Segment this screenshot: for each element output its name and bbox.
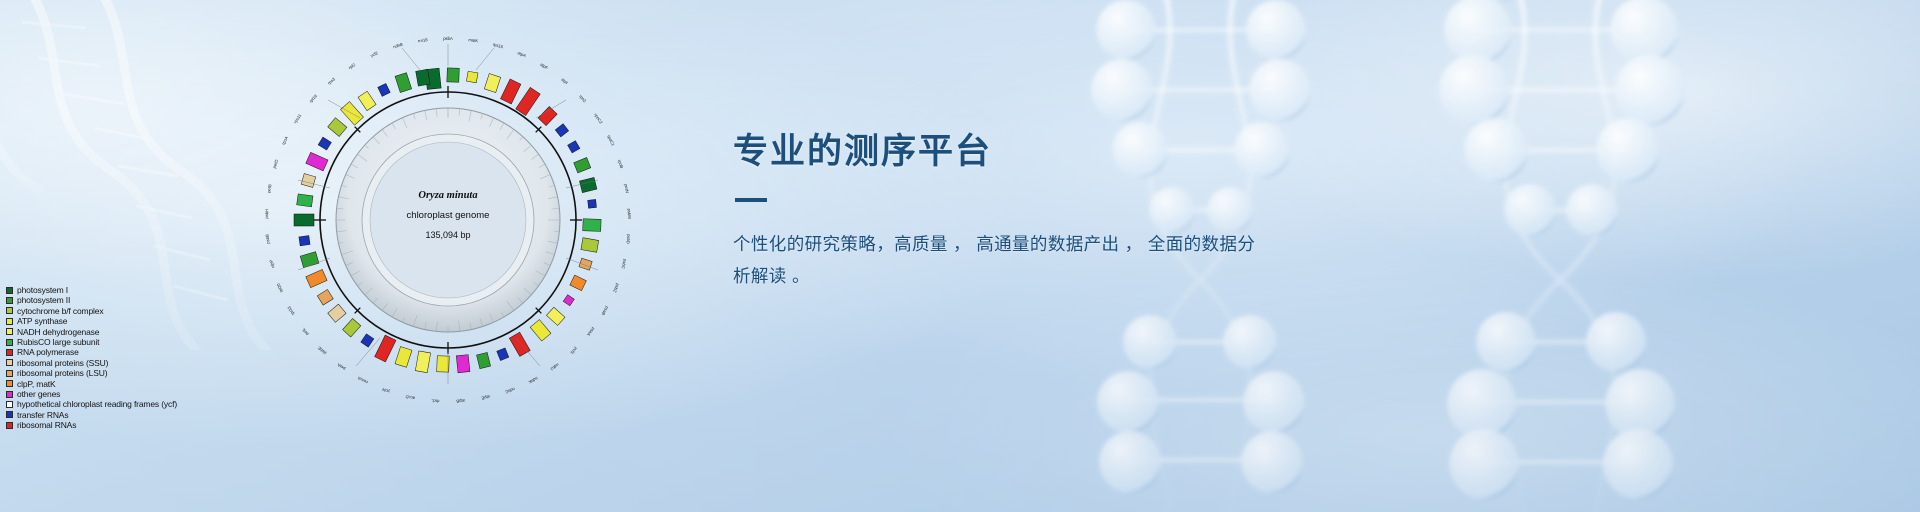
legend-item: cytochrome b/f complex bbox=[6, 306, 177, 316]
svg-text:ndhJ: ndhJ bbox=[550, 362, 560, 371]
svg-text:psbZ: psbZ bbox=[612, 283, 620, 294]
svg-text:rpl16: rpl16 bbox=[308, 93, 318, 104]
legend-item: ribosomal proteins (LSU) bbox=[6, 368, 177, 378]
legend-item-label: transfer RNAs bbox=[17, 410, 68, 420]
legend-color-swatch bbox=[6, 339, 13, 346]
legend-item: RubisCO large subunit bbox=[6, 337, 177, 347]
legend-color-swatch bbox=[6, 380, 13, 387]
svg-text:clpP: clpP bbox=[268, 259, 275, 268]
legend-color-swatch bbox=[6, 287, 13, 294]
legend-item-label: RubisCO large subunit bbox=[17, 337, 99, 347]
legend-color-swatch bbox=[6, 391, 13, 398]
svg-text:petN: petN bbox=[624, 184, 630, 194]
legend-item-label: photosystem I bbox=[17, 285, 68, 295]
legend-color-swatch bbox=[6, 318, 13, 325]
legend-color-swatch bbox=[6, 297, 13, 304]
legend-item-label: ribosomal RNAs bbox=[17, 420, 76, 430]
svg-text:psbC: psbC bbox=[620, 259, 627, 270]
svg-text:petB: petB bbox=[266, 184, 272, 194]
svg-text:rpl33: rpl33 bbox=[286, 305, 295, 316]
svg-text:psbE: psbE bbox=[317, 345, 327, 355]
legend-item: NADH dehydrogenase bbox=[6, 327, 177, 337]
legend-item-label: ATP synthase bbox=[17, 316, 67, 326]
chloroplast-genome-figure: psbA matK rps16 atpA atpF atpI rps2 rpoC… bbox=[236, 8, 660, 428]
svg-text:ycf3: ycf3 bbox=[569, 346, 578, 355]
legend-color-swatch bbox=[6, 359, 13, 366]
svg-text:ndhK: ndhK bbox=[528, 376, 539, 385]
legend-item-label: hypothetical chloroplast reading frames … bbox=[17, 399, 177, 409]
svg-text:rrn16: rrn16 bbox=[418, 37, 429, 43]
legend-color-swatch bbox=[6, 401, 13, 408]
legend-item: photosystem II bbox=[6, 295, 177, 305]
legend-item-label: ribosomal proteins (SSU) bbox=[17, 358, 108, 368]
legend-item-label: other genes bbox=[17, 389, 60, 399]
svg-text:rpl20: rpl20 bbox=[275, 282, 283, 293]
genome-organism-name: Oryza minuta bbox=[418, 190, 477, 201]
svg-text:petL: petL bbox=[300, 326, 309, 336]
svg-text:rpoC1: rpoC1 bbox=[606, 134, 616, 147]
svg-text:atpF: atpF bbox=[539, 62, 549, 71]
svg-text:psaB: psaB bbox=[601, 305, 610, 316]
svg-text:rps3: rps3 bbox=[327, 76, 337, 85]
svg-text:atpB: atpB bbox=[456, 398, 465, 404]
svg-text:rpl2: rpl2 bbox=[348, 62, 357, 70]
legend-item-label: ribosomal proteins (LSU) bbox=[17, 368, 107, 378]
svg-text:psbA: psbA bbox=[443, 36, 453, 41]
legend-item: photosystem I bbox=[6, 285, 177, 295]
banner-copy: 专业的测序平台 个性化的研究策略，高质量 ， 高通量的数据产出 ， 全面的数据分… bbox=[733, 130, 1353, 292]
svg-text:atpA: atpA bbox=[517, 50, 527, 58]
legend-item-label: cytochrome b/f complex bbox=[17, 306, 103, 316]
legend-item-label: clpP, matK bbox=[17, 379, 56, 389]
svg-text:atpE: atpE bbox=[481, 394, 491, 401]
svg-text:petD: petD bbox=[272, 159, 279, 169]
svg-text:ndhC: ndhC bbox=[505, 386, 516, 394]
genome-legend: photosystem Iphotosystem IIcytochrome b/… bbox=[6, 285, 177, 430]
genome-subtitle: chloroplast genome bbox=[407, 210, 490, 221]
svg-text:rpoB: rpoB bbox=[617, 159, 625, 169]
genome-length: 135,094 bp bbox=[425, 230, 470, 240]
svg-text:rps11: rps11 bbox=[293, 112, 303, 124]
legend-item-label: NADH dehydrogenase bbox=[17, 327, 99, 337]
svg-text:petA: petA bbox=[336, 362, 346, 371]
banner-description: 个性化的研究策略，高质量 ， 高通量的数据产出 ， 全面的数据分析解读 。 bbox=[733, 228, 1263, 292]
legend-item: transfer RNAs bbox=[6, 410, 177, 420]
legend-item: ribosomal RNAs bbox=[6, 420, 177, 430]
legend-item-label: photosystem II bbox=[17, 295, 70, 305]
svg-text:rps16: rps16 bbox=[492, 42, 504, 50]
legend-item: ribosomal proteins (SSU) bbox=[6, 358, 177, 368]
legend-color-swatch bbox=[6, 307, 13, 314]
svg-text:atpI: atpI bbox=[560, 77, 569, 85]
svg-text:rpoA: rpoA bbox=[281, 135, 289, 145]
svg-text:ycf2: ycf2 bbox=[370, 50, 380, 58]
legend-color-swatch bbox=[6, 422, 13, 429]
svg-text:psbH: psbH bbox=[264, 209, 269, 219]
svg-text:accD: accD bbox=[405, 394, 415, 401]
legend-item: hypothetical chloroplast reading frames … bbox=[6, 399, 177, 409]
title-divider bbox=[735, 198, 767, 202]
svg-text:psbD: psbD bbox=[626, 234, 632, 244]
page-title: 专业的测序平台 bbox=[733, 130, 1353, 174]
svg-text:ycf4: ycf4 bbox=[381, 387, 391, 395]
svg-text:rbcL: rbcL bbox=[430, 398, 439, 404]
svg-text:cemA: cemA bbox=[357, 375, 369, 385]
legend-item: RNA polymerase bbox=[6, 347, 177, 357]
legend-color-swatch bbox=[6, 411, 13, 418]
svg-text:rps2: rps2 bbox=[578, 94, 588, 104]
svg-text:rpoC2: rpoC2 bbox=[593, 112, 604, 125]
legend-item-label: RNA polymerase bbox=[17, 347, 79, 357]
svg-text:psbM: psbM bbox=[627, 208, 632, 219]
legend-color-swatch bbox=[6, 349, 13, 356]
svg-text:psaA: psaA bbox=[586, 326, 596, 337]
legend-item: other genes bbox=[6, 389, 177, 399]
legend-item: clpP, matK bbox=[6, 379, 177, 389]
svg-text:matK: matK bbox=[468, 37, 479, 43]
legend-color-swatch bbox=[6, 370, 13, 377]
legend-color-swatch bbox=[6, 328, 13, 335]
legend-item: ATP synthase bbox=[6, 316, 177, 326]
svg-text:psbB: psbB bbox=[264, 234, 270, 244]
